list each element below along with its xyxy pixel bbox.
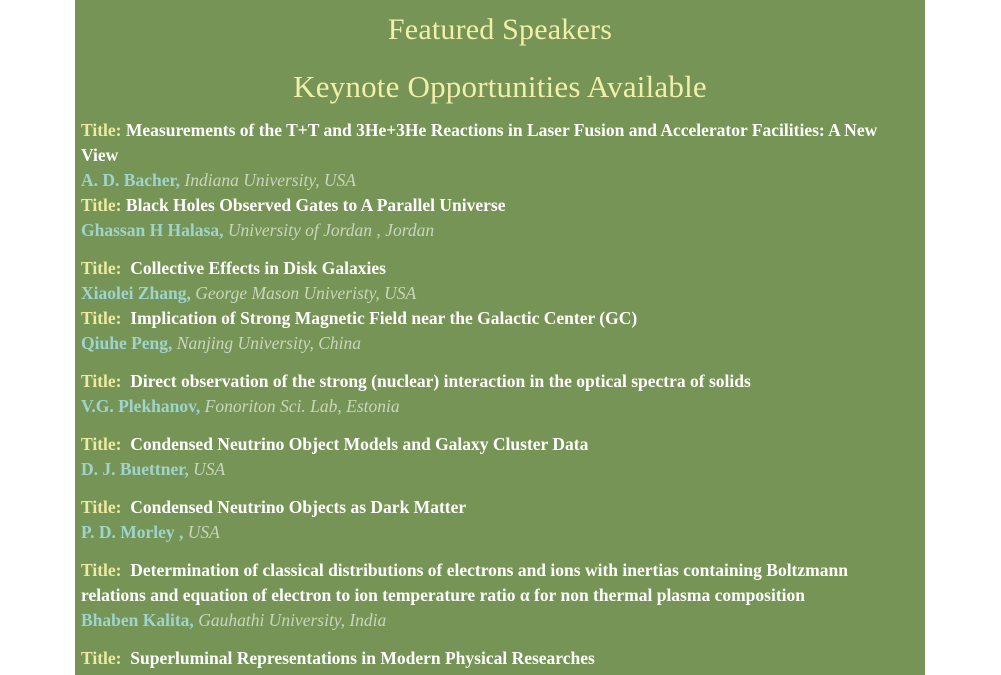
slide-page: Featured Speakers Keynote Opportunities …: [0, 0, 1001, 675]
speaker-affiliation: University of Jordan , Jordan: [228, 220, 434, 240]
talk-title-line: Title: Superluminal Representations in M…: [81, 646, 915, 671]
title-label: Title:: [81, 308, 122, 328]
speaker-affiliation: George Mason Univeristy, USA: [195, 283, 416, 303]
talk-title-line: Title: Black Holes Observed Gates to A P…: [81, 193, 915, 218]
headings-block: Featured Speakers Keynote Opportunities …: [75, 0, 925, 110]
speaker-entry: Title: Condensed Neutrino Objects as Dar…: [81, 495, 915, 545]
speaker-affiliation: Gauhathi University, India: [198, 610, 386, 630]
title-label: Title:: [81, 648, 122, 668]
speaker-name: Bhaben Kalita,: [81, 610, 194, 630]
talk-title: Collective Effects in Disk Galaxies: [130, 258, 386, 278]
talk-title: Condensed Neutrino Objects as Dark Matte…: [130, 497, 466, 517]
speaker-line: P. D. Morley , USA: [81, 520, 915, 545]
talk-title-line: Title: Condensed Neutrino Object Models …: [81, 432, 915, 457]
speaker-affiliation: Indiana University, USA: [184, 170, 356, 190]
title-label: Title:: [81, 120, 122, 140]
speaker-name: Qiuhe Peng,: [81, 333, 172, 353]
speaker-line: Ghassan H Halasa, University of Jordan ,…: [81, 218, 915, 243]
speaker-name: Ghassan H Halasa,: [81, 220, 223, 240]
speaker-name: D. J. Buettner,: [81, 459, 189, 479]
speaker-entry: Title: Direct observation of the strong …: [81, 369, 915, 419]
talk-title: Superluminal Representations in Modern P…: [130, 648, 595, 668]
title-label: Title:: [81, 258, 122, 278]
talk-title: Black Holes Observed Gates to A Parallel…: [126, 195, 506, 215]
speaker-line: Dmitri Kirko, Moscow Engineering Physics…: [81, 671, 915, 675]
talk-title-line: Title: Collective Effects in Disk Galaxi…: [81, 256, 915, 281]
talk-title: Measurements of the T+T and 3He+3He Reac…: [81, 120, 877, 165]
talk-title-line: Title: Measurements of the T+T and 3He+3…: [81, 118, 915, 168]
speaker-list: Title: Measurements of the T+T and 3He+3…: [75, 110, 925, 675]
talk-title-line: Title: Condensed Neutrino Objects as Dar…: [81, 495, 915, 520]
speaker-line: Qiuhe Peng, Nanjing University, China: [81, 331, 915, 356]
speaker-entry: Title: Implication of Strong Magnetic Fi…: [81, 306, 915, 356]
speaker-affiliation: Nanjing University, China: [177, 333, 361, 353]
talk-title: Direct observation of the strong (nuclea…: [130, 371, 751, 391]
speaker-name: A. D. Bacher,: [81, 170, 180, 190]
speaker-affiliation: Fonoriton Sci. Lab, Estonia: [205, 396, 400, 416]
speaker-affiliation: USA: [193, 459, 225, 479]
title-label: Title:: [81, 434, 122, 454]
speaker-entry: Title: Superluminal Representations in M…: [81, 646, 915, 675]
speaker-name: Xiaolei Zhang,: [81, 283, 191, 303]
title-label: Title:: [81, 371, 122, 391]
speaker-line: A. D. Bacher, Indiana University, USA: [81, 168, 915, 193]
talk-title: Condensed Neutrino Object Models and Gal…: [130, 434, 588, 454]
speaker-name: P. D. Morley ,: [81, 522, 183, 542]
talk-title: Determination of classical distributions…: [81, 560, 848, 605]
speaker-line: V.G. Plekhanov, Fonoriton Sci. Lab, Esto…: [81, 394, 915, 419]
page-subtitle: Keynote Opportunities Available: [75, 52, 925, 110]
talk-title-line: Title: Implication of Strong Magnetic Fi…: [81, 306, 915, 331]
speaker-affiliation: USA: [188, 522, 220, 542]
content-panel: Featured Speakers Keynote Opportunities …: [75, 0, 925, 675]
speaker-entry: Title: Black Holes Observed Gates to A P…: [81, 193, 915, 243]
speaker-entry: Title: Determination of classical distri…: [81, 558, 915, 633]
title-label: Title:: [81, 497, 122, 517]
talk-title-line: Title: Direct observation of the strong …: [81, 369, 915, 394]
speaker-entry: Title: Condensed Neutrino Object Models …: [81, 432, 915, 482]
talk-title-line: Title: Determination of classical distri…: [81, 558, 915, 608]
title-label: Title:: [81, 560, 122, 580]
speaker-entry: Title: Measurements of the T+T and 3He+3…: [81, 118, 915, 193]
speaker-line: D. J. Buettner, USA: [81, 457, 915, 482]
speaker-name: V.G. Plekhanov,: [81, 396, 200, 416]
speaker-line: Xiaolei Zhang, George Mason Univeristy, …: [81, 281, 915, 306]
speaker-entry: Title: Collective Effects in Disk Galaxi…: [81, 256, 915, 306]
talk-title: Implication of Strong Magnetic Field nea…: [130, 308, 637, 328]
page-title: Featured Speakers: [75, 4, 925, 52]
speaker-line: Bhaben Kalita, Gauhathi University, Indi…: [81, 608, 915, 633]
title-label: Title:: [81, 195, 122, 215]
